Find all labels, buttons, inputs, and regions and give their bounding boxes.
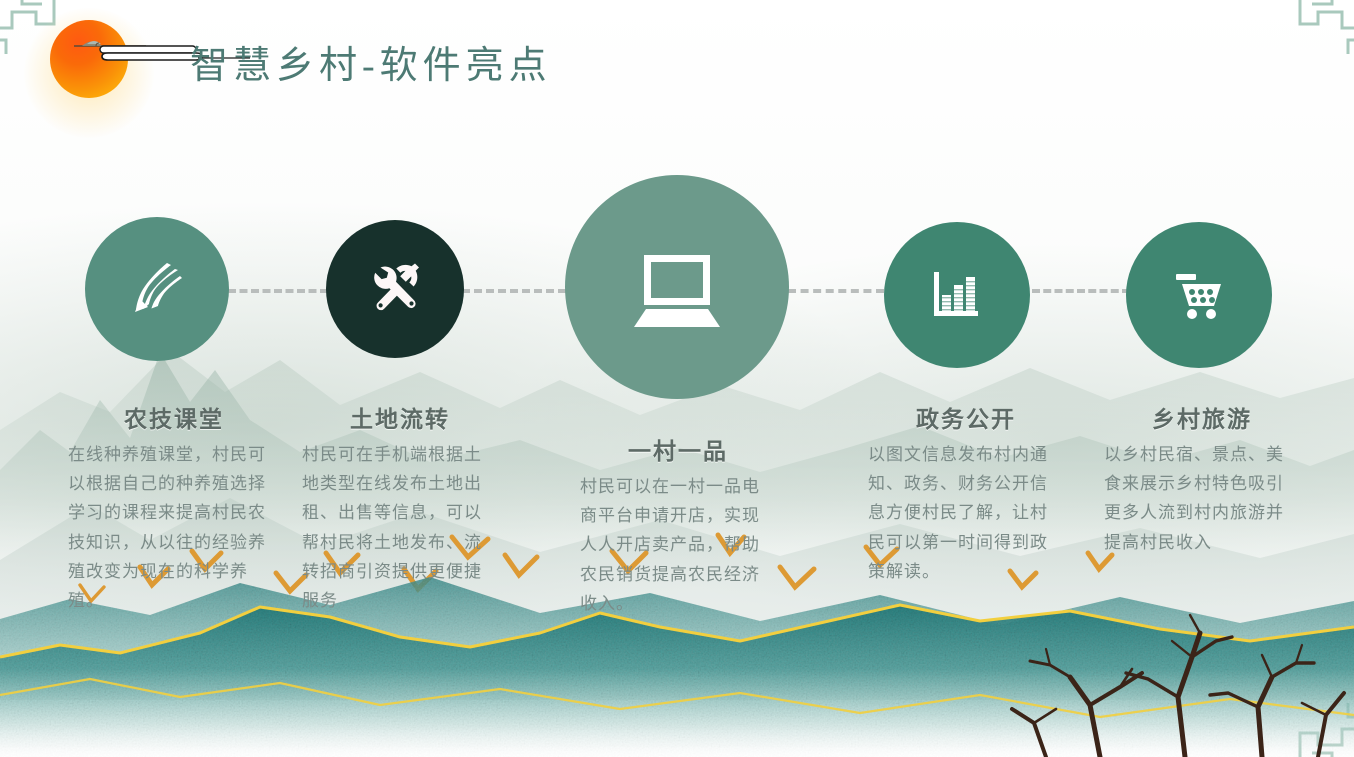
hammer-wrench-icon: [359, 253, 431, 325]
column-title-5: 乡村旅游: [1104, 400, 1300, 434]
connector-line-1: [228, 289, 328, 293]
text-column-1: 农技课堂 在线种养殖课堂，村民可以根据自己的种养殖选择学习的课程来提高村民农技知…: [68, 400, 280, 615]
title-block: 智慧乡村-软件亮点: [0, 0, 560, 120]
bar-chart-icon: [923, 261, 991, 329]
column-title-3: 一村一品: [580, 432, 776, 466]
column-body-2: 村民可在手机端根据土地类型在线发布土地出租、出售等信息，可以帮村民将土地发布、流…: [302, 440, 498, 615]
node-circle-zheng-wu-gong-kai[interactable]: [884, 222, 1030, 368]
connector-line-3: [788, 289, 884, 293]
text-column-3: 一村一品 村民可以在一村一品电商平台申请开店，实现人人开店卖产品，帮助农民销货提…: [580, 432, 776, 618]
shopping-cart-icon: [1165, 261, 1233, 329]
node-circle-yi-cun-yi-pin[interactable]: [565, 175, 789, 399]
laptop-icon: [621, 231, 733, 343]
text-column-5: 乡村旅游 以乡村民宿、景点、美食来展示乡村特色吸引更多人流到村内旅游并提高村民收…: [1104, 400, 1300, 557]
column-body-1: 在线种养殖课堂，村民可以根据自己的种养殖选择学习的课程来提高村民农技知识，从以往…: [68, 440, 280, 615]
text-column-4: 政务公开 以图文信息发布村内通知、政务、财务公开信息方便村民了解，让村民可以第一…: [868, 400, 1064, 586]
node-circle-tu-di-liu-zhuan[interactable]: [326, 220, 464, 358]
slide-canvas: 智慧乡村-软件亮点: [0, 0, 1354, 757]
node-circle-xiang-cun-lv-you[interactable]: [1126, 222, 1272, 368]
column-title-1: 农技课堂: [68, 400, 280, 434]
page-title: 智慧乡村-软件亮点: [190, 34, 552, 89]
column-title-2: 土地流转: [302, 400, 498, 434]
connector-line-4: [1032, 289, 1130, 293]
column-title-4: 政务公开: [868, 400, 1064, 434]
text-column-2: 土地流转 村民可在手机端根据土地类型在线发布土地出租、出售等信息，可以帮村民将土…: [302, 400, 498, 615]
corner-ornament-top-right: [1280, 0, 1354, 72]
column-body-3: 村民可以在一村一品电商平台申请开店，实现人人开店卖产品，帮助农民销货提高农民经济…: [580, 472, 776, 618]
node-circle-nong-ji-ke-tang[interactable]: [85, 217, 229, 361]
column-body-5: 以乡村民宿、景点、美食来展示乡村特色吸引更多人流到村内旅游并提高村民收入: [1104, 440, 1300, 557]
corner-ornament-bottom-right: [1280, 685, 1354, 757]
connector-line-2: [462, 289, 566, 293]
pen-nib-icon: [121, 253, 193, 325]
column-body-4: 以图文信息发布村内通知、政务、财务公开信息方便村民了解，让村民可以第一时间得到政…: [868, 440, 1064, 586]
